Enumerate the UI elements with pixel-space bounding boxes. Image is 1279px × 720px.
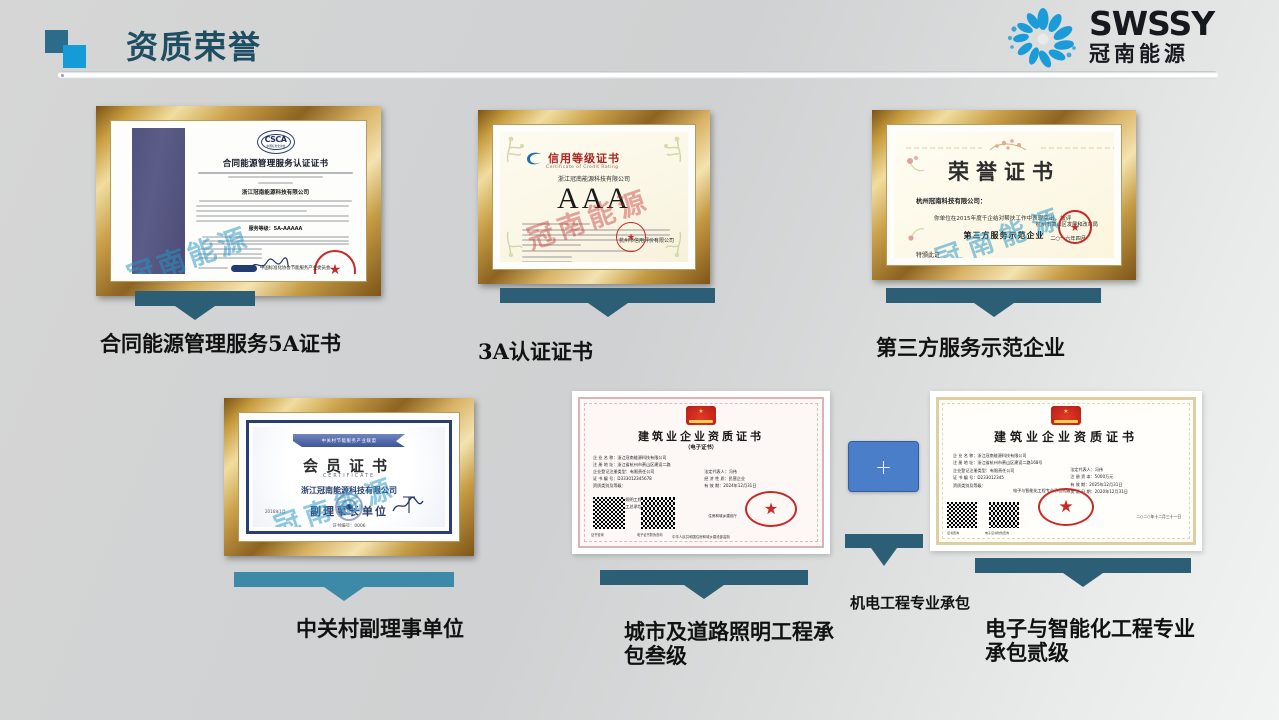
certificate-card-intelligent[interactable]: ★ 建筑业企业资质证书 企 业 名 称：浙江冠南能源科技有限公司 注 册 地 址… [930, 391, 1202, 551]
arrow-banner-mechanical [845, 534, 923, 566]
arrow-banner-5a [135, 291, 255, 320]
cert-footer-lighting: 中华人民共和国住房和城乡建设部监制 [585, 534, 817, 539]
red-seal-honor: ★ [1058, 210, 1092, 244]
cert-seal-label-lighting: 住房和城乡建设厅 [708, 514, 737, 519]
red-seal-lighting: ★ [745, 491, 797, 527]
cert-field: 证 书 编 号：D333012345678 [593, 475, 704, 482]
add-button[interactable]: + [848, 441, 919, 492]
cert-subject-honor: 杭州冠南科技有限公司： [916, 196, 986, 205]
caption-5a: 合同能源管理服务5A证书 [100, 332, 400, 356]
csca-badge-sub: 中国标准化协会 [258, 144, 292, 148]
footer-logo-chip [231, 265, 257, 272]
qr-code-left[interactable] [947, 502, 977, 528]
seal-star-icon: ★ [1070, 221, 1080, 234]
certificate-paper-aaa: 信用等级证书 Certificate of Credit Rating 浙江冠南… [500, 132, 688, 262]
caption-intelligent: 电子与智能化工程专业承包贰级 [985, 617, 1215, 665]
arrow-banner-honor [886, 288, 1101, 317]
ribbon-text: 中关村节能服务产业联盟 [322, 438, 377, 444]
cert-heading-aaa: 信用等级证书 [548, 150, 620, 166]
cert-heading-sub-lighting: （电子证书） [585, 443, 817, 451]
csca-badge-text: CSCA [257, 135, 295, 144]
certificate-card-5a[interactable]: CSCA 中国标准化协会 合同能源管理服务认证证书 浙江冠南能源科技有限公司 服… [96, 106, 381, 296]
cert-field: 有 效 期：2025年12月31日 [1070, 481, 1181, 488]
red-seal-intelligent: ★ [1038, 488, 1094, 526]
red-seal-aaa: ★ [616, 222, 646, 252]
cert-field: 有 效 期：2024年12月31日 [704, 482, 811, 489]
embossed-seal-icon [335, 493, 363, 521]
qr-code-left[interactable] [593, 497, 625, 529]
certificate-paper-member: 中关村节能服务产业联盟 会员证书 CERTIFICATE 浙江冠南能源科技有限公… [246, 420, 452, 534]
arrow-banner-member [234, 572, 454, 601]
slide-canvas: 资质荣誉 [0, 0, 1279, 720]
seal-star-icon: ★ [1058, 497, 1073, 517]
square-cyan-icon [63, 45, 86, 68]
cert-footer-5a: 中国标准化协会节能服务产业委员会 [260, 265, 330, 271]
qr-code-right[interactable] [989, 502, 1019, 528]
cert-field: 资质类别及等级： [593, 482, 704, 489]
cert-heading-honor: 荣誉证书 [894, 156, 1114, 186]
arrow-banner-aaa [500, 288, 715, 317]
cert-field: 注 册 资 本：5000万元 [1070, 473, 1181, 480]
cert-field: 企业登记注册类型：有限责任公司 [953, 467, 1069, 474]
garland-ornament-icon [904, 138, 1114, 154]
cert-left-strip [132, 128, 185, 274]
cert-subject-5a: 浙江冠南能源科技有限公司 [196, 188, 355, 196]
seal-star-icon: ★ [627, 232, 635, 243]
certificate-card-aaa[interactable]: 信用等级证书 Certificate of Credit Rating 浙江冠南… [478, 110, 710, 284]
cert-date-intelligent: 二○二○年十二月三十一日 [1136, 514, 1181, 520]
ribbon-banner: 中关村节能服务产业联盟 [293, 434, 405, 447]
national-emblem-icon: ★ [1051, 406, 1081, 425]
qr-label-left: 证书查询 [947, 531, 959, 535]
cert-field: 企 业 名 称：浙江冠南能源科技有限公司 [593, 454, 704, 461]
brand-name-cn: 冠南能源 [1089, 41, 1214, 67]
cert-field: 注 册 地 址：浙江省杭州市萧山区建设二路168号 [953, 459, 1069, 466]
cert-grade-5a: 服务等级：5A-AAAAA [196, 225, 355, 232]
seal-star-icon: ★ [764, 499, 778, 519]
cert-field: 企业登记注册类型：有限责任公司 [593, 468, 704, 475]
certificate-paper-lighting: ★ 建筑业企业资质证书 （电子证书） 企 业 名 称：浙江冠南能源科技有限公司 … [578, 397, 824, 548]
brand-name-en: SWSSY [1089, 7, 1214, 41]
cert-field: 注 册 地 址：浙江省杭州市萧山区建设二路 [593, 461, 704, 468]
caption-honor: 第三方服务示范企业 [876, 336, 1176, 360]
national-emblem-icon: ★ [686, 406, 716, 425]
caption-member: 中关村副理事单位 [230, 617, 530, 641]
certificate-card-honor[interactable]: 荣誉证书 杭州冠南科技有限公司： 你单位在2015年度千企结对帮扶工作中表现突出… [872, 110, 1136, 280]
certificate-card-member[interactable]: 中关村节能服务产业联盟 会员证书 CERTIFICATE 浙江冠南能源科技有限公… [224, 398, 474, 556]
cert-field: 证 书 编 号：D233012345 [953, 474, 1069, 481]
cert-closing-honor: 特颁此证 [916, 250, 940, 258]
certificate-card-lighting[interactable]: ★ 建筑业企业资质证书 （电子证书） 企 业 名 称：浙江冠南能源科技有限公司 … [572, 391, 830, 554]
cert-heading-5a: 合同能源管理服务认证证书 [196, 157, 355, 169]
cert-field: 法定代表人：冯伟 [1070, 466, 1181, 473]
cert-date-member: 2016年1月 [265, 509, 286, 515]
arrow-banner-intelligent [975, 558, 1191, 587]
page-title: 资质荣誉 [126, 22, 262, 68]
arrow-banner-lighting [600, 570, 808, 599]
certificate-paper-5a: CSCA 中国标准化协会 合同能源管理服务认证证书 浙江冠南能源科技有限公司 服… [118, 128, 359, 274]
cert-heading-intelligent: 建筑业企业资质证书 [943, 428, 1189, 445]
certificate-paper-intelligent: ★ 建筑业企业资质证书 企 业 名 称：浙江冠南能源科技有限公司 注 册 地 址… [936, 397, 1196, 545]
cert-heading-lighting: 建筑业企业资质证书 [585, 428, 817, 444]
caption-aaa: 3A认证证书 [478, 340, 778, 364]
certificate-paper-honor: 荣誉证书 杭州冠南科技有限公司： 你单位在2015年度千企结对帮扶工作中表现突出… [894, 132, 1114, 258]
water-droplet-petals-emblem-icon [1003, 7, 1083, 69]
cert-heading-en-aaa: Certificate of Credit Rating [546, 165, 619, 170]
credit-rating-logo-icon [524, 150, 544, 166]
cert-grade-aaa: AAA [500, 182, 688, 216]
cert-heading-member: 会员证书 [253, 455, 445, 476]
qr-label-right: 电子证书防伪查询 [985, 531, 1009, 535]
cert-field: 企 业 名 称：浙江冠南能源科技有限公司 [953, 452, 1069, 459]
caption-lighting: 城市及道路照明工程承包叁级 [624, 620, 839, 668]
csca-badge-icon: CSCA 中国标准化协会 [257, 130, 295, 154]
caption-mechanical: 机电工程专业承包 [820, 595, 1000, 612]
signature-mark [391, 495, 429, 515]
cert-number-member: 证书编号：0006 [253, 523, 445, 527]
cert-field: 法定代表人：冯伟 [704, 468, 811, 475]
qr-code-right[interactable] [641, 497, 675, 529]
cert-field: 经 济 性 质：民营企业 [704, 475, 811, 482]
cert-heading-en-member: CERTIFICATE [253, 474, 445, 479]
brand-logo: SWSSY 冠南能源 [1003, 5, 1273, 73]
